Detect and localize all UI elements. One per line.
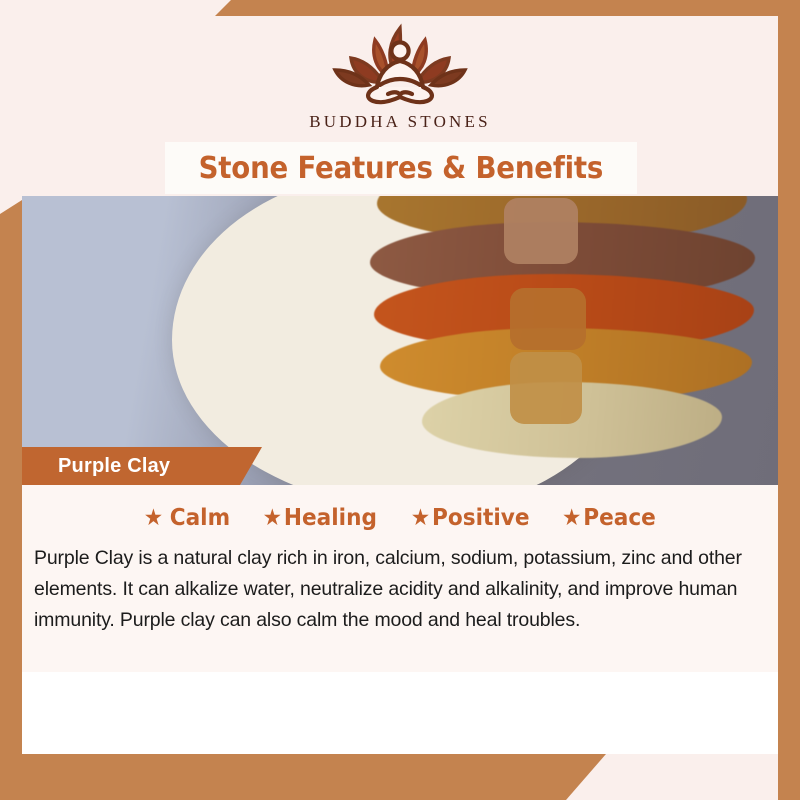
stone-name-badge: Purple Clay [22, 447, 262, 485]
benefit-item-peace: ★ Peace [562, 505, 656, 531]
lotus-meditation-icon [315, 18, 485, 110]
benefit-item-healing: ★ Healing [263, 505, 377, 531]
product-photo [22, 196, 778, 485]
stone-name-label: Purple Clay [58, 455, 170, 478]
benefit-label: Calm [170, 505, 230, 531]
benefit-label: Healing [284, 505, 377, 531]
bottom-spacer [22, 672, 778, 754]
brand-name: BUDDHA STONES [0, 112, 800, 132]
benefit-item-calm: ★ Calm [144, 505, 230, 531]
benefit-label: Peace [583, 505, 656, 531]
frame-band-top [215, 0, 800, 16]
photo-powder-swatch [510, 288, 586, 350]
photo-powder-swatch [510, 352, 582, 424]
benefits-list: ★ Calm ★ Healing ★ Positive ★ Peace [22, 485, 778, 531]
page-title: Stone Features & Benefits [199, 151, 604, 186]
benefit-item-positive: ★ Positive [410, 505, 529, 531]
product-info-card: BUDDHA STONES Stone Features & Benefits … [0, 0, 800, 800]
stone-description: Purple Clay is a natural clay rich in ir… [34, 543, 766, 635]
title-banner: Stone Features & Benefits [165, 142, 637, 194]
star-icon: ★ [562, 507, 581, 530]
benefit-label: Positive [432, 505, 529, 531]
star-icon: ★ [144, 507, 163, 530]
photo-plate [172, 196, 642, 485]
frame-band-left [0, 200, 22, 755]
photo-powder-swatch [504, 198, 578, 264]
star-icon: ★ [410, 507, 429, 530]
star-icon: ★ [263, 507, 282, 530]
brand-logo: BUDDHA STONES [0, 18, 800, 132]
frame-band-bottom [0, 754, 606, 800]
